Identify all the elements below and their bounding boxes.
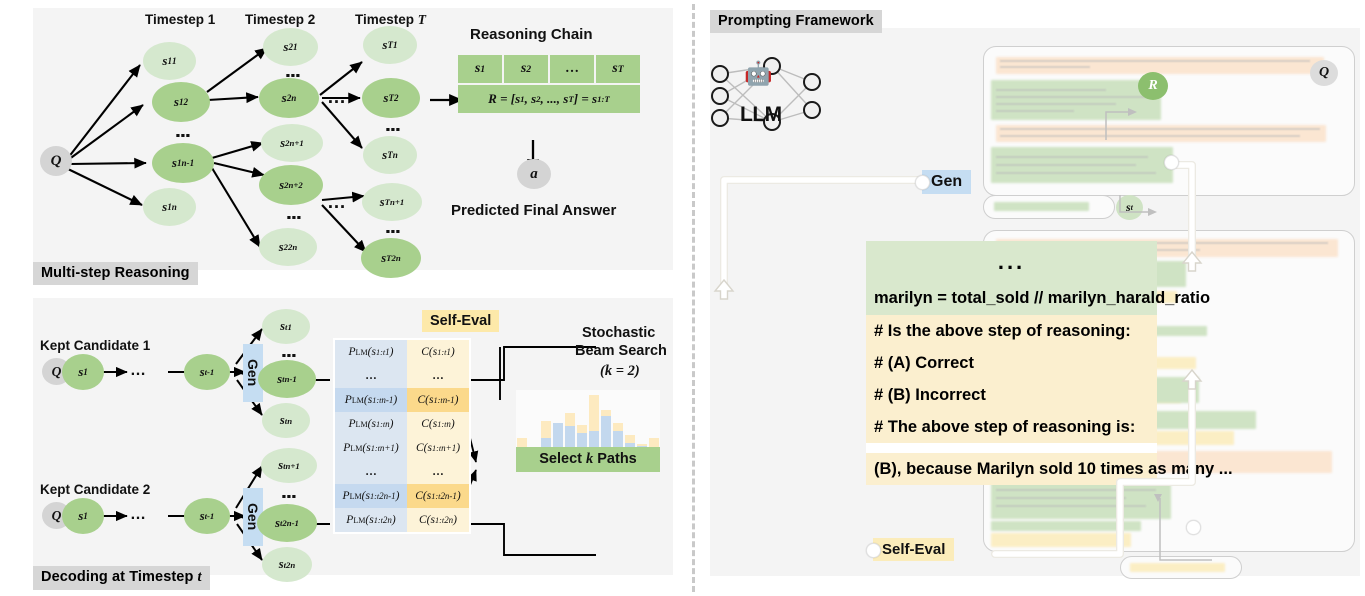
self-eval-cell-plm-6: PLM(s1:t2n-1): [335, 484, 407, 508]
node-s1-candidate-2: s1: [62, 498, 104, 534]
card-se-connector-dot: [1186, 520, 1201, 535]
self-eval-cell-c-1: …: [407, 364, 469, 388]
self-eval-cell-plm-3: PLM(s1:tn): [335, 412, 407, 436]
node-s2-n: s2n: [259, 78, 319, 118]
self-eval-cell-c-2: C(s1:tn-1): [407, 388, 469, 412]
vertical-ellipsis-t1: ⋮: [178, 126, 186, 144]
node-st1-candidate-1: st-1: [184, 354, 230, 390]
node-st-2n: st2n: [262, 547, 312, 582]
stochastic-beam-search-k: (k = 2): [600, 363, 640, 380]
self-eval-tag-prompting: Self-Eval: [873, 538, 954, 561]
node-s2-n1: s2n+1: [261, 124, 323, 162]
vdots-branch-2: ⋮: [284, 487, 292, 505]
self-eval-cell-plm-7: PLM(s1:t2n): [335, 508, 407, 532]
tab-decoding-at-timestep: Decoding at Timestep t: [33, 566, 210, 590]
self-eval-cell-c-6: C(s1:t2n-1): [407, 484, 469, 508]
self-eval-cell-plm-0: PLM(s1:t1): [335, 340, 407, 364]
node-sT-2n: sT2n: [361, 238, 421, 278]
node-st-1: st1: [262, 309, 310, 344]
self-eval-cell-c-4: C(s1:tn+1): [407, 436, 469, 460]
self-eval-cell-plm-1: …: [335, 364, 407, 388]
node-sT-1: sT1: [363, 26, 417, 64]
node-st-n1: stn+1: [261, 448, 317, 483]
self-eval-cell-plm-5: …: [335, 460, 407, 484]
chain-cell-sT: sT: [596, 55, 640, 83]
self-eval-col-c: C(s1:t1)…C(s1:tn-1)C(s1:tn)C(s1:tn+1)…C(…: [407, 340, 469, 532]
figure-root: Timestep 1 Timestep 2 Timestep T: [0, 0, 1365, 596]
node-final-answer: a: [517, 159, 551, 189]
self-eval-cell-c-3: C(s1:tn): [407, 412, 469, 436]
card-q-connector-dot: [1164, 155, 1179, 170]
candidate-2-ellipsis: …: [130, 507, 146, 523]
chain-cell-dots: …: [550, 55, 594, 83]
predicted-final-answer-label: Predicted Final Answer: [451, 202, 616, 219]
node-s1-n: s1n: [143, 188, 196, 226]
node-s2-2n: s22n: [259, 228, 317, 266]
node-sT-2: sT2: [362, 78, 420, 118]
flow-connectors: [700, 0, 1365, 596]
select-k-paths-tag: Select k Paths: [516, 447, 660, 472]
reasoning-chain-equation: R = [s1, s2, ..., sT] = s1:T: [458, 85, 640, 113]
panel-divider: [692, 4, 695, 592]
tab-multi-step-reasoning: Multi-step Reasoning: [33, 262, 198, 285]
node-s1-n-1: s1n-1: [152, 143, 214, 183]
chain-cell-s1: s1: [458, 55, 502, 83]
node-st1-candidate-2: st-1: [184, 498, 230, 534]
self-eval-cell-c-7: C(s1:t2n): [407, 508, 469, 532]
stochastic-beam-search-line2: Beam Search: [575, 343, 667, 359]
reasoning-chain-cells: s1 s2 … sT: [458, 55, 640, 83]
node-st-n-1: stn-1: [258, 360, 316, 398]
self-eval-cell-plm-2: PLM(s1:tn-1): [335, 388, 407, 412]
vertical-ellipsis-t2b: ⋮: [289, 208, 297, 226]
node-s1-2: s12: [152, 82, 210, 122]
self-eval-col-plm: PLM(s1:t1)…PLM(s1:tn-1)PLM(s1:tn)PLM(s1:…: [335, 340, 407, 532]
reasoning-chain-title: Reasoning Chain: [470, 26, 593, 43]
candidate-1-ellipsis: …: [130, 363, 146, 379]
horizontal-ellipsis-top-a: …: [327, 88, 346, 107]
self-eval-connector-dot: [866, 543, 881, 558]
self-eval-table: PLM(s1:t1)…PLM(s1:tn-1)PLM(s1:tn)PLM(s1:…: [333, 338, 471, 534]
node-st-2n-1: st2n-1: [257, 504, 317, 542]
node-s2-n2: s2n+2: [259, 165, 323, 205]
gen-connector-dot: [915, 175, 930, 190]
node-s2-1: s21: [263, 28, 318, 66]
self-eval-cell-c-5: …: [407, 460, 469, 484]
node-s1-candidate-1: s1: [62, 354, 104, 390]
self-eval-cell-plm-4: PLM(s1:tn+1): [335, 436, 407, 460]
horizontal-ellipsis-top-b: …: [327, 193, 346, 212]
node-st-n: stn: [262, 403, 310, 438]
kept-candidate-1-label: Kept Candidate 1: [40, 338, 150, 353]
chain-cell-s2: s2: [504, 55, 548, 83]
self-eval-cell-c-0: C(s1:t1): [407, 340, 469, 364]
node-question-root: Q: [40, 146, 72, 176]
self-eval-tag-decoding: Self-Eval: [422, 310, 499, 332]
node-s1-1: s11: [143, 42, 196, 80]
stochastic-beam-search-line1: Stochastic: [582, 325, 655, 341]
node-sT-n1: sTn+1: [362, 183, 422, 221]
node-sT-n: sTn: [363, 136, 417, 174]
kept-candidate-2-label: Kept Candidate 2: [40, 482, 150, 497]
